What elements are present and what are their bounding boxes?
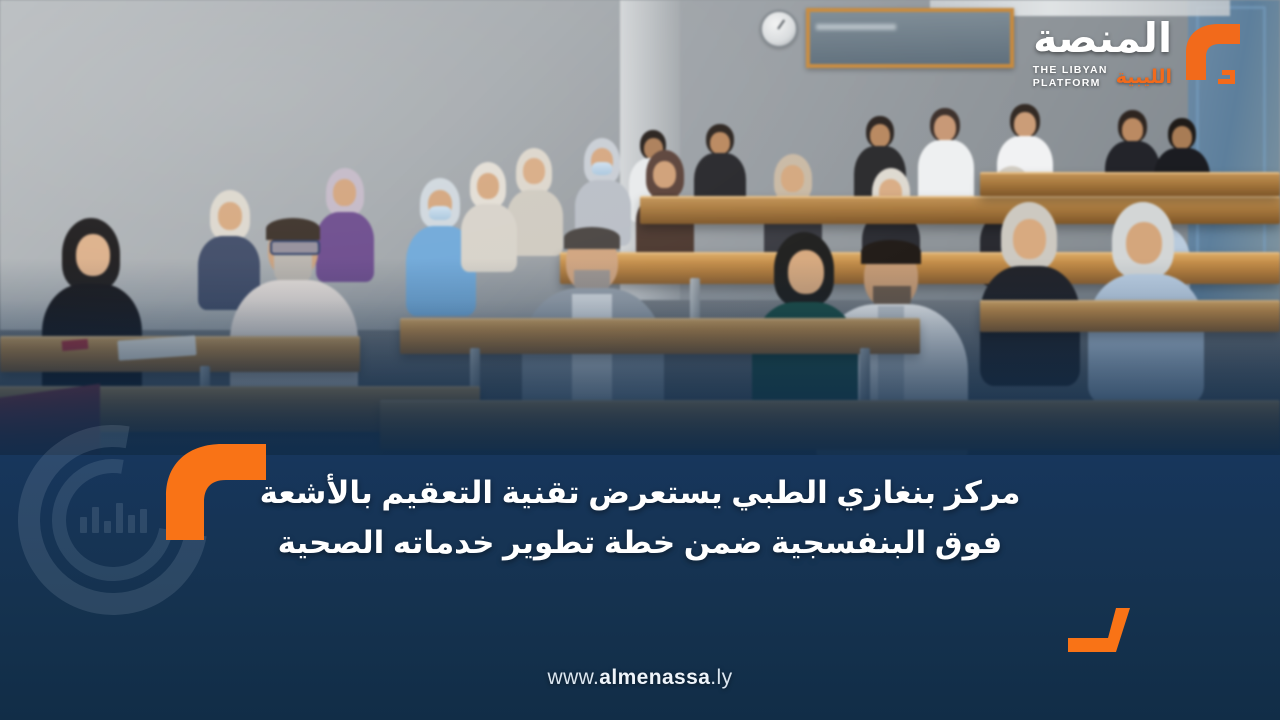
- brand-en-line1: THE LIBYAN: [1033, 64, 1108, 77]
- news-card: المنصة THE LIBYAN PLATFORM الليبية: [0, 0, 1280, 720]
- brand-logo[interactable]: المنصة THE LIBYAN PLATFORM الليبية: [1033, 18, 1246, 90]
- wall-picture-frame: [806, 8, 1014, 68]
- headline-line-1: مركز بنغازي الطبي يستعرض تقنية التعقيم ب…: [120, 468, 1160, 518]
- brand-logo-text: المنصة THE LIBYAN PLATFORM الليبية: [1033, 18, 1172, 90]
- brand-subname-arabic: الليبية: [1116, 68, 1172, 87]
- eyeglasses-icon: [270, 240, 320, 255]
- bench-row: [640, 196, 1280, 224]
- site-url-suffix: .ly: [710, 666, 732, 689]
- site-url-name: almenassa: [599, 666, 710, 689]
- brand-en-line2: PLATFORM: [1033, 77, 1108, 90]
- headline-line-2: فوق البنفسجية ضمن خطة تطوير خدماته الصحي…: [120, 518, 1160, 568]
- headline: مركز بنغازي الطبي يستعرض تقنية التعقيم ب…: [120, 468, 1160, 568]
- brand-name-english: THE LIBYAN PLATFORM: [1033, 64, 1108, 90]
- bench-row: [980, 172, 1280, 196]
- orange-l-corner-icon: [1068, 608, 1134, 654]
- almenassa-r-mark-icon: [1182, 18, 1246, 90]
- wall-clock-icon: [760, 10, 798, 48]
- site-url-prefix: www.: [548, 666, 600, 689]
- brand-name-arabic: المنصة: [1033, 18, 1172, 59]
- site-url[interactable]: www.almenassa.ly: [0, 666, 1280, 690]
